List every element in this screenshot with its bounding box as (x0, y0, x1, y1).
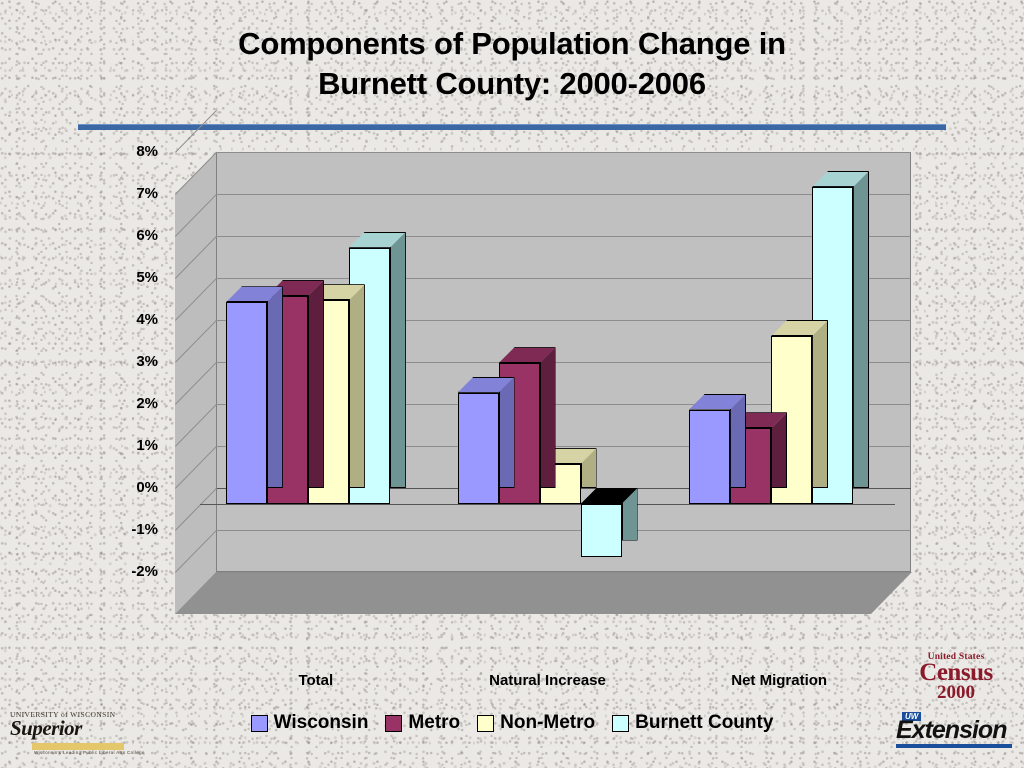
y-axis: 8%7%6%5%4%3%2%1%0%-1%-2% (96, 148, 158, 678)
census-line3: 2000 (906, 684, 1006, 701)
gridline (216, 152, 911, 153)
bar-front-face (689, 410, 730, 505)
legend-label: Burnett County (635, 712, 773, 734)
gridline (216, 194, 911, 195)
legend-item-metro: Metro (385, 712, 460, 734)
uw-superior-line2: Superior (10, 719, 128, 739)
y-axis-tick-label: 4% (102, 311, 158, 328)
slide-root: Components of Population Change in Burne… (0, 0, 1024, 768)
y-axis-tick-label: 1% (102, 437, 158, 454)
uw-superior-logo: UNIVERSITY of WISCONSIN Superior Wiscons… (10, 710, 128, 758)
y-axis-tick-label: 8% (102, 143, 158, 160)
chart-legend: WisconsinMetroNon-MetroBurnett County (0, 712, 1024, 734)
bar-side-face (390, 232, 406, 488)
gridline (216, 236, 911, 237)
gridline (216, 278, 911, 279)
y-axis-tick-label: -1% (102, 521, 158, 538)
bar-wisconsin-net-migration (689, 410, 730, 505)
bar-side-face (812, 320, 828, 488)
census-line2: Census (906, 662, 1006, 684)
bar-wisconsin-total (226, 302, 267, 504)
uw-extension-word: Extension (896, 718, 1006, 743)
bar-side-face (267, 286, 283, 488)
bar-side-face (540, 347, 556, 488)
y-axis-tick-label: 5% (102, 269, 158, 286)
x-axis-category-label: Natural Increase (489, 672, 606, 689)
bar-side-face (853, 171, 869, 488)
x-axis-line (200, 504, 895, 505)
legend-label: Non-Metro (500, 712, 595, 734)
uw-extension-logo: UW Extension (896, 712, 1014, 754)
bar-front-face (581, 504, 622, 557)
bar-side-face (349, 284, 365, 488)
x-axis-category-label: Total (298, 672, 333, 689)
plot-area (175, 148, 926, 678)
legend-swatch (612, 715, 629, 732)
census-2000-logo: United States Census 2000 (906, 652, 1006, 701)
axis-depth-line (175, 572, 217, 614)
uw-superior-gold-bar (32, 743, 124, 750)
legend-swatch (385, 715, 402, 732)
gridline (216, 572, 911, 573)
uw-extension-underline (896, 744, 1012, 748)
legend-swatch (477, 715, 494, 732)
y-axis-tick-label: 3% (102, 353, 158, 370)
y-axis-tick-label: 0% (102, 479, 158, 496)
page-title: Components of Population Change in Burne… (0, 24, 1024, 103)
legend-item-non-metro: Non-Metro (477, 712, 595, 734)
uw-superior-tagline: Wisconsin's Leading Public Liberal Arts … (34, 750, 145, 755)
legend-swatch (251, 715, 268, 732)
gridline (216, 530, 911, 531)
bar-burnett-county-natural-increase (581, 504, 622, 557)
legend-item-burnett-county: Burnett County (612, 712, 773, 734)
legend-item-wisconsin: Wisconsin (251, 712, 369, 734)
bar-front-face (458, 393, 499, 504)
title-line-1: Components of Population Change in (238, 26, 786, 61)
title-divider-rule (78, 124, 946, 130)
y-axis-tick-label: 6% (102, 227, 158, 244)
legend-label: Metro (408, 712, 460, 734)
bar-side-face (308, 280, 324, 488)
bar-front-face (226, 302, 267, 504)
y-axis-tick-label: 2% (102, 395, 158, 412)
y-axis-tick-label: 7% (102, 185, 158, 202)
population-change-chart: 8%7%6%5%4%3%2%1%0%-1%-2% TotalNatural In… (96, 148, 926, 678)
bar-side-face (730, 394, 746, 489)
bar-wisconsin-natural-increase (458, 393, 499, 504)
x-axis-category-label: Net Migration (731, 672, 827, 689)
y-axis-tick-label: -2% (102, 563, 158, 580)
plot-floor (175, 572, 912, 614)
legend-label: Wisconsin (274, 712, 369, 734)
bar-side-face (499, 377, 515, 488)
title-line-2: Burnett County: 2000-2006 (0, 64, 1024, 104)
